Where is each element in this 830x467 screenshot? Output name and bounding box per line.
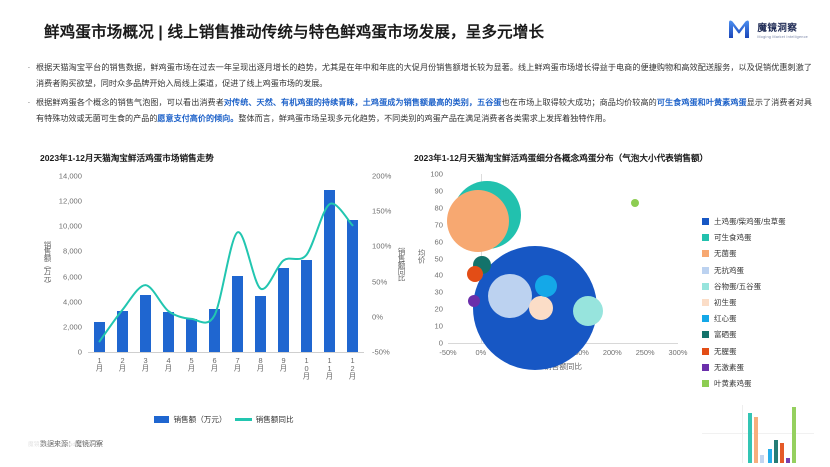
bubble-legend-label: 无激素蛋: [714, 362, 744, 373]
right-chart-area: 0102030405060708090100-50%0%50%100%150%2…: [414, 168, 818, 373]
legend-item[interactable]: 销售额同比: [235, 414, 294, 425]
brand-logo: 魔镜洞察 Moging Market Intelligence: [726, 18, 808, 40]
legend-bar-swatch-icon: [154, 416, 169, 423]
left-chart-legend: 销售额（万元）销售额同比: [40, 414, 408, 425]
bubble-x-tick: -50%: [439, 348, 456, 357]
deco-bar: [760, 455, 764, 463]
legend-line-swatch-icon: [235, 418, 252, 421]
deco-bar: [768, 449, 772, 463]
x-axis-tick: 7月: [232, 356, 243, 370]
bubble-legend-item[interactable]: 可生食鸡蛋: [702, 232, 786, 243]
bubble-legend-swatch-icon: [702, 299, 709, 306]
bullet-highlight: 对传统、天然、有机鸡蛋的持续青睐，土鸡蛋成为销售额最高的类别，五谷蛋: [224, 98, 502, 107]
bubble-legend-swatch-icon: [702, 380, 709, 387]
bullet-span: 整体而言，鲜鸡蛋市场呈现多元化趋势，不同类别的鸡蛋产品在满足消费者各类需求上发挥…: [238, 114, 610, 123]
bubble-legend-item[interactable]: 红心蛋: [702, 313, 786, 324]
bubble-y-axis-title: 均价: [416, 249, 427, 262]
left-axis-tick: 8,000: [63, 247, 82, 256]
bullet-highlight: 可生食鸡蛋和叶黄素鸡蛋: [657, 98, 747, 107]
bar-column: [163, 312, 174, 352]
chart-panel-concept-bubbles: 2023年1-12月天猫淘宝鲜活鸡蛋细分各概念鸡蛋分布（气泡大小代表销售额） 0…: [414, 152, 818, 437]
bubble-legend-label: 富硒蛋: [714, 329, 737, 340]
logo-text-block: 魔镜洞察 Moging Market Intelligence: [757, 20, 808, 39]
chart-panel-sales-trend: 2023年1-12月天猫淘宝鲜活鸡蛋市场销售走势 02,0004,0006,00…: [40, 152, 408, 437]
slide-header: 鲜鸡蛋市场概况 | 线上销售推动传统与特色鲜鸡蛋市场发展，呈多元增长 魔镜洞察 …: [0, 0, 830, 54]
bubble-legend-label: 可生食鸡蛋: [714, 232, 752, 243]
bubble-y-tick: 80: [435, 203, 443, 212]
bubble-legend-item[interactable]: 初生蛋: [702, 297, 786, 308]
bar-column: [347, 220, 358, 352]
bubble-legend-item[interactable]: 无抗鸡蛋: [702, 265, 786, 276]
bubble-point[interactable]: [573, 296, 603, 326]
bar-column: [301, 260, 312, 352]
bubble-legend-item[interactable]: 谷物蛋/五谷蛋: [702, 281, 786, 292]
x-axis-tick: 9月: [278, 356, 289, 370]
bullet-item: ·根据鲜鸡蛋各个概念的销售气泡图，可以看出消费者对传统、天然、有机鸡蛋的持续青睐…: [22, 95, 812, 126]
bubble-legend-label: 无菌蛋: [714, 248, 737, 259]
bubble-y-tick: 0: [439, 339, 443, 348]
x-axis-tick: 8月: [255, 356, 266, 370]
bubble-y-tick: 10: [435, 322, 443, 331]
bubble-legend-item[interactable]: 富硒蛋: [702, 329, 786, 340]
bar-column: [278, 268, 289, 352]
bubble-legend-swatch-icon: [702, 331, 709, 338]
right-chart-title: 2023年1-12月天猫淘宝鲜活鸡蛋细分各概念鸡蛋分布（气泡大小代表销售额）: [414, 152, 818, 164]
deco-bar: [748, 413, 752, 463]
right-axis-tick: 50%: [372, 277, 387, 286]
bubble-y-tick: 40: [435, 271, 443, 280]
left-axis-tick: 4,000: [63, 297, 82, 306]
bubble-legend-label: 土鸡蛋/柴鸡蛋/虫草蛋: [714, 216, 786, 227]
legend-label: 销售额（万元）: [173, 414, 226, 425]
bubble-legend-swatch-icon: [702, 218, 709, 225]
bubble-point[interactable]: [529, 296, 553, 320]
bubble-y-tick: 90: [435, 186, 443, 195]
deco-gridline: [702, 433, 814, 434]
deco-bar: [792, 407, 796, 463]
logo-m-icon: [726, 18, 752, 40]
bullet-span: 根据鲜鸡蛋各个概念的销售气泡图，可以看出消费者: [36, 98, 224, 107]
bubble-y-tick: 50: [435, 254, 443, 263]
bubble-point[interactable]: [447, 190, 509, 252]
bullet-text: 根据鲜鸡蛋各个概念的销售气泡图，可以看出消费者对传统、天然、有机鸡蛋的持续青睐，…: [36, 95, 812, 126]
x-axis-tick: 4月: [163, 356, 174, 370]
bubble-legend-label: 初生蛋: [714, 297, 737, 308]
x-axis-tick: 2月: [117, 356, 128, 370]
bubble-y-tick: 70: [435, 220, 443, 229]
bar-column: [324, 190, 335, 352]
bubble-y-tick: 60: [435, 237, 443, 246]
bubble-legend-label: 无腥蛋: [714, 346, 737, 357]
deco-bar: [774, 440, 778, 463]
logo-name-cn: 魔镜洞察: [757, 20, 808, 34]
bullet-marker-icon: ·: [22, 60, 36, 91]
bubble-legend-swatch-icon: [702, 364, 709, 371]
bubble-point[interactable]: [631, 199, 639, 207]
bubble-point[interactable]: [467, 266, 483, 282]
bubble-x-tick: 250%: [636, 348, 655, 357]
bullet-text: 根据天猫淘宝平台的销售数据，鲜鸡蛋市场在过去一年呈现出逐月增长的趋势，尤其是在年…: [36, 60, 812, 91]
right-axis-tick: 100%: [372, 242, 391, 251]
right-axis-tick: -50%: [372, 348, 390, 357]
watermark: 魔镜洞察：mktindex.com: [28, 440, 96, 448]
bubble-point[interactable]: [535, 275, 557, 297]
left-axis-tick: 10,000: [59, 222, 82, 231]
bubble-x-tick: 300%: [669, 348, 688, 357]
deco-axis: [742, 405, 743, 463]
right-axis-tick: 0%: [372, 312, 383, 321]
bar-column: [209, 309, 220, 352]
bubble-y-tick: 20: [435, 305, 443, 314]
bar-column: [186, 319, 197, 352]
right-axis-title: 销售额同比: [396, 248, 407, 281]
bubble-y-tick: 100: [430, 170, 443, 179]
left-axis-tick: 12,000: [59, 197, 82, 206]
bullet-marker-icon: ·: [22, 95, 36, 126]
decorative-mini-chart: [702, 405, 814, 463]
logo-name-en: Moging Market Intelligence: [757, 35, 808, 39]
bubble-y-tick: 30: [435, 288, 443, 297]
bubble-chart-legend: 土鸡蛋/柴鸡蛋/虫草蛋可生食鸡蛋无菌蛋无抗鸡蛋谷物蛋/五谷蛋初生蛋红心蛋富硒蛋无…: [702, 216, 786, 394]
bubble-x-tick: 200%: [603, 348, 622, 357]
bubble-legend-swatch-icon: [702, 315, 709, 322]
bar-column: [117, 311, 128, 352]
bubble-legend-label: 无抗鸡蛋: [714, 265, 744, 276]
x-axis-tick: 12月: [347, 356, 358, 378]
bubble-point[interactable]: [468, 295, 480, 307]
left-chart-title: 2023年1-12月天猫淘宝鲜活鸡蛋市场销售走势: [40, 152, 408, 164]
bubble-point[interactable]: [488, 274, 532, 318]
right-axis-tick: 150%: [372, 207, 391, 216]
legend-label: 销售额同比: [256, 414, 294, 425]
bubble-legend-swatch-icon: [702, 250, 709, 257]
bubble-legend-swatch-icon: [702, 234, 709, 241]
slide-root: 鲜鸡蛋市场概况 | 线上销售推动传统与特色鲜鸡蛋市场发展，呈多元增长 魔镜洞察 …: [0, 0, 830, 467]
left-axis-tick: 14,000: [59, 172, 82, 181]
bullet-list: ·根据天猫淘宝平台的销售数据，鲜鸡蛋市场在过去一年呈现出逐月增长的趋势，尤其是在…: [22, 60, 812, 130]
bubble-legend-swatch-icon: [702, 348, 709, 355]
bar-column: [255, 296, 266, 352]
bubble-legend-swatch-icon: [702, 283, 709, 290]
bubble-legend-item[interactable]: 无腥蛋: [702, 346, 786, 357]
x-axis-tick: 11月: [324, 356, 335, 378]
x-axis-tick: 1月: [94, 356, 105, 370]
deco-bar: [754, 417, 758, 463]
left-axis-tick: 6,000: [63, 272, 82, 281]
x-axis-tick: 6月: [209, 356, 220, 370]
x-axis-line: [88, 352, 364, 353]
bubble-x-tick: 0%: [476, 348, 487, 357]
page-title: 鲜鸡蛋市场概况 | 线上销售推动传统与特色鲜鸡蛋市场发展，呈多元增长: [44, 20, 544, 42]
deco-bar: [780, 443, 784, 463]
x-axis-tick: 5月: [186, 356, 197, 370]
bullet-item: ·根据天猫淘宝平台的销售数据，鲜鸡蛋市场在过去一年呈现出逐月增长的趋势，尤其是在…: [22, 60, 812, 91]
bubble-legend-label: 谷物蛋/五谷蛋: [714, 281, 761, 292]
bubble-legend-item[interactable]: 无激素蛋: [702, 362, 786, 373]
bar-column: [140, 295, 151, 352]
bullet-highlight: 愿意支付高价的倾向。: [157, 114, 238, 123]
bubble-legend-item[interactable]: 叶黄素鸡蛋: [702, 378, 786, 389]
x-axis-tick: 3月: [140, 356, 151, 370]
bubble-legend-swatch-icon: [702, 267, 709, 274]
right-axis-tick: 200%: [372, 172, 391, 181]
x-axis-tick: 10月: [301, 356, 312, 378]
bubble-legend-label: 红心蛋: [714, 313, 737, 324]
bullet-span: 根据天猫淘宝平台的销售数据，鲜鸡蛋市场在过去一年呈现出逐月增长的趋势，尤其是在年…: [36, 63, 812, 88]
bubble-legend-item[interactable]: 无菌蛋: [702, 248, 786, 259]
bar-column: [232, 276, 243, 352]
bubble-legend-label: 叶黄素鸡蛋: [714, 378, 752, 389]
left-axis-tick: 0: [78, 348, 82, 357]
bullet-span: 也在市场上取得较大成功；商品均价较高的: [502, 98, 657, 107]
bubble-plot: 0102030405060708090100-50%0%50%100%150%2…: [414, 168, 684, 373]
left-chart-plot: 02,0004,0006,0008,00010,00012,00014,000-…: [40, 168, 408, 388]
deco-bar: [786, 458, 790, 463]
bar-column: [94, 322, 105, 352]
left-axis-tick: 2,000: [63, 322, 82, 331]
left-axis-title: 销售额（万元）: [42, 241, 53, 287]
bubble-legend-item[interactable]: 土鸡蛋/柴鸡蛋/虫草蛋: [702, 216, 786, 227]
legend-item[interactable]: 销售额（万元）: [154, 414, 226, 425]
